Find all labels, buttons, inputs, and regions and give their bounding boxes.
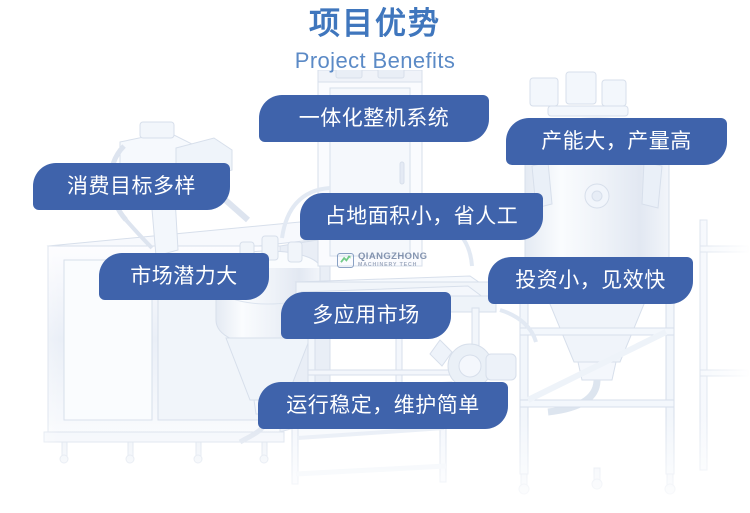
logo-square-icon — [337, 253, 354, 268]
benefit-badge-multi-application[interactable]: 多应用市场 — [281, 292, 451, 339]
page-title: 项目优势 Project Benefits — [0, 4, 750, 76]
benefit-badge-market-potential[interactable]: 市场潜力大 — [99, 253, 269, 300]
benefit-badge-label: 占地面积小，省人工 — [325, 206, 519, 227]
benefit-badge-label: 多应用市场 — [312, 305, 420, 326]
benefit-badge-stable-operation[interactable]: 运行稳定，维护简单 — [258, 382, 508, 429]
benefit-badge-diverse-targets[interactable]: 消费目标多样 — [33, 163, 230, 210]
benefit-badge-label: 运行稳定，维护简单 — [286, 395, 480, 416]
title-english: Project Benefits — [0, 46, 750, 76]
benefit-badge-label: 产能大，产量高 — [541, 131, 692, 152]
title-chinese: 项目优势 — [0, 4, 750, 44]
logo-text-group: QIANGZHONG MACHINERY TECH — [358, 252, 427, 268]
logo-tagline: MACHINERY TECH — [358, 263, 427, 268]
benefit-badge-label: 市场潜力大 — [130, 266, 238, 287]
benefit-badge-small-footprint[interactable]: 占地面积小，省人工 — [300, 193, 543, 240]
growth-arrow-icon — [340, 255, 351, 264]
benefit-badge-label: 消费目标多样 — [67, 176, 196, 197]
benefit-badge-low-investment[interactable]: 投资小，见效快 — [488, 257, 693, 304]
logo-brand-name: QIANGZHONG — [358, 252, 427, 262]
brand-watermark: QIANGZHONG MACHINERY TECH — [337, 252, 427, 268]
benefit-badge-label: 一体化整机系统 — [299, 108, 450, 129]
project-benefits-banner: 项目优势 Project Benefits QIANGZHONG MACHINE… — [0, 0, 750, 513]
benefit-badge-label: 投资小，见效快 — [515, 270, 666, 291]
benefit-badge-integrated-system[interactable]: 一体化整机系统 — [259, 95, 489, 142]
benefit-badge-high-capacity[interactable]: 产能大，产量高 — [506, 118, 727, 165]
